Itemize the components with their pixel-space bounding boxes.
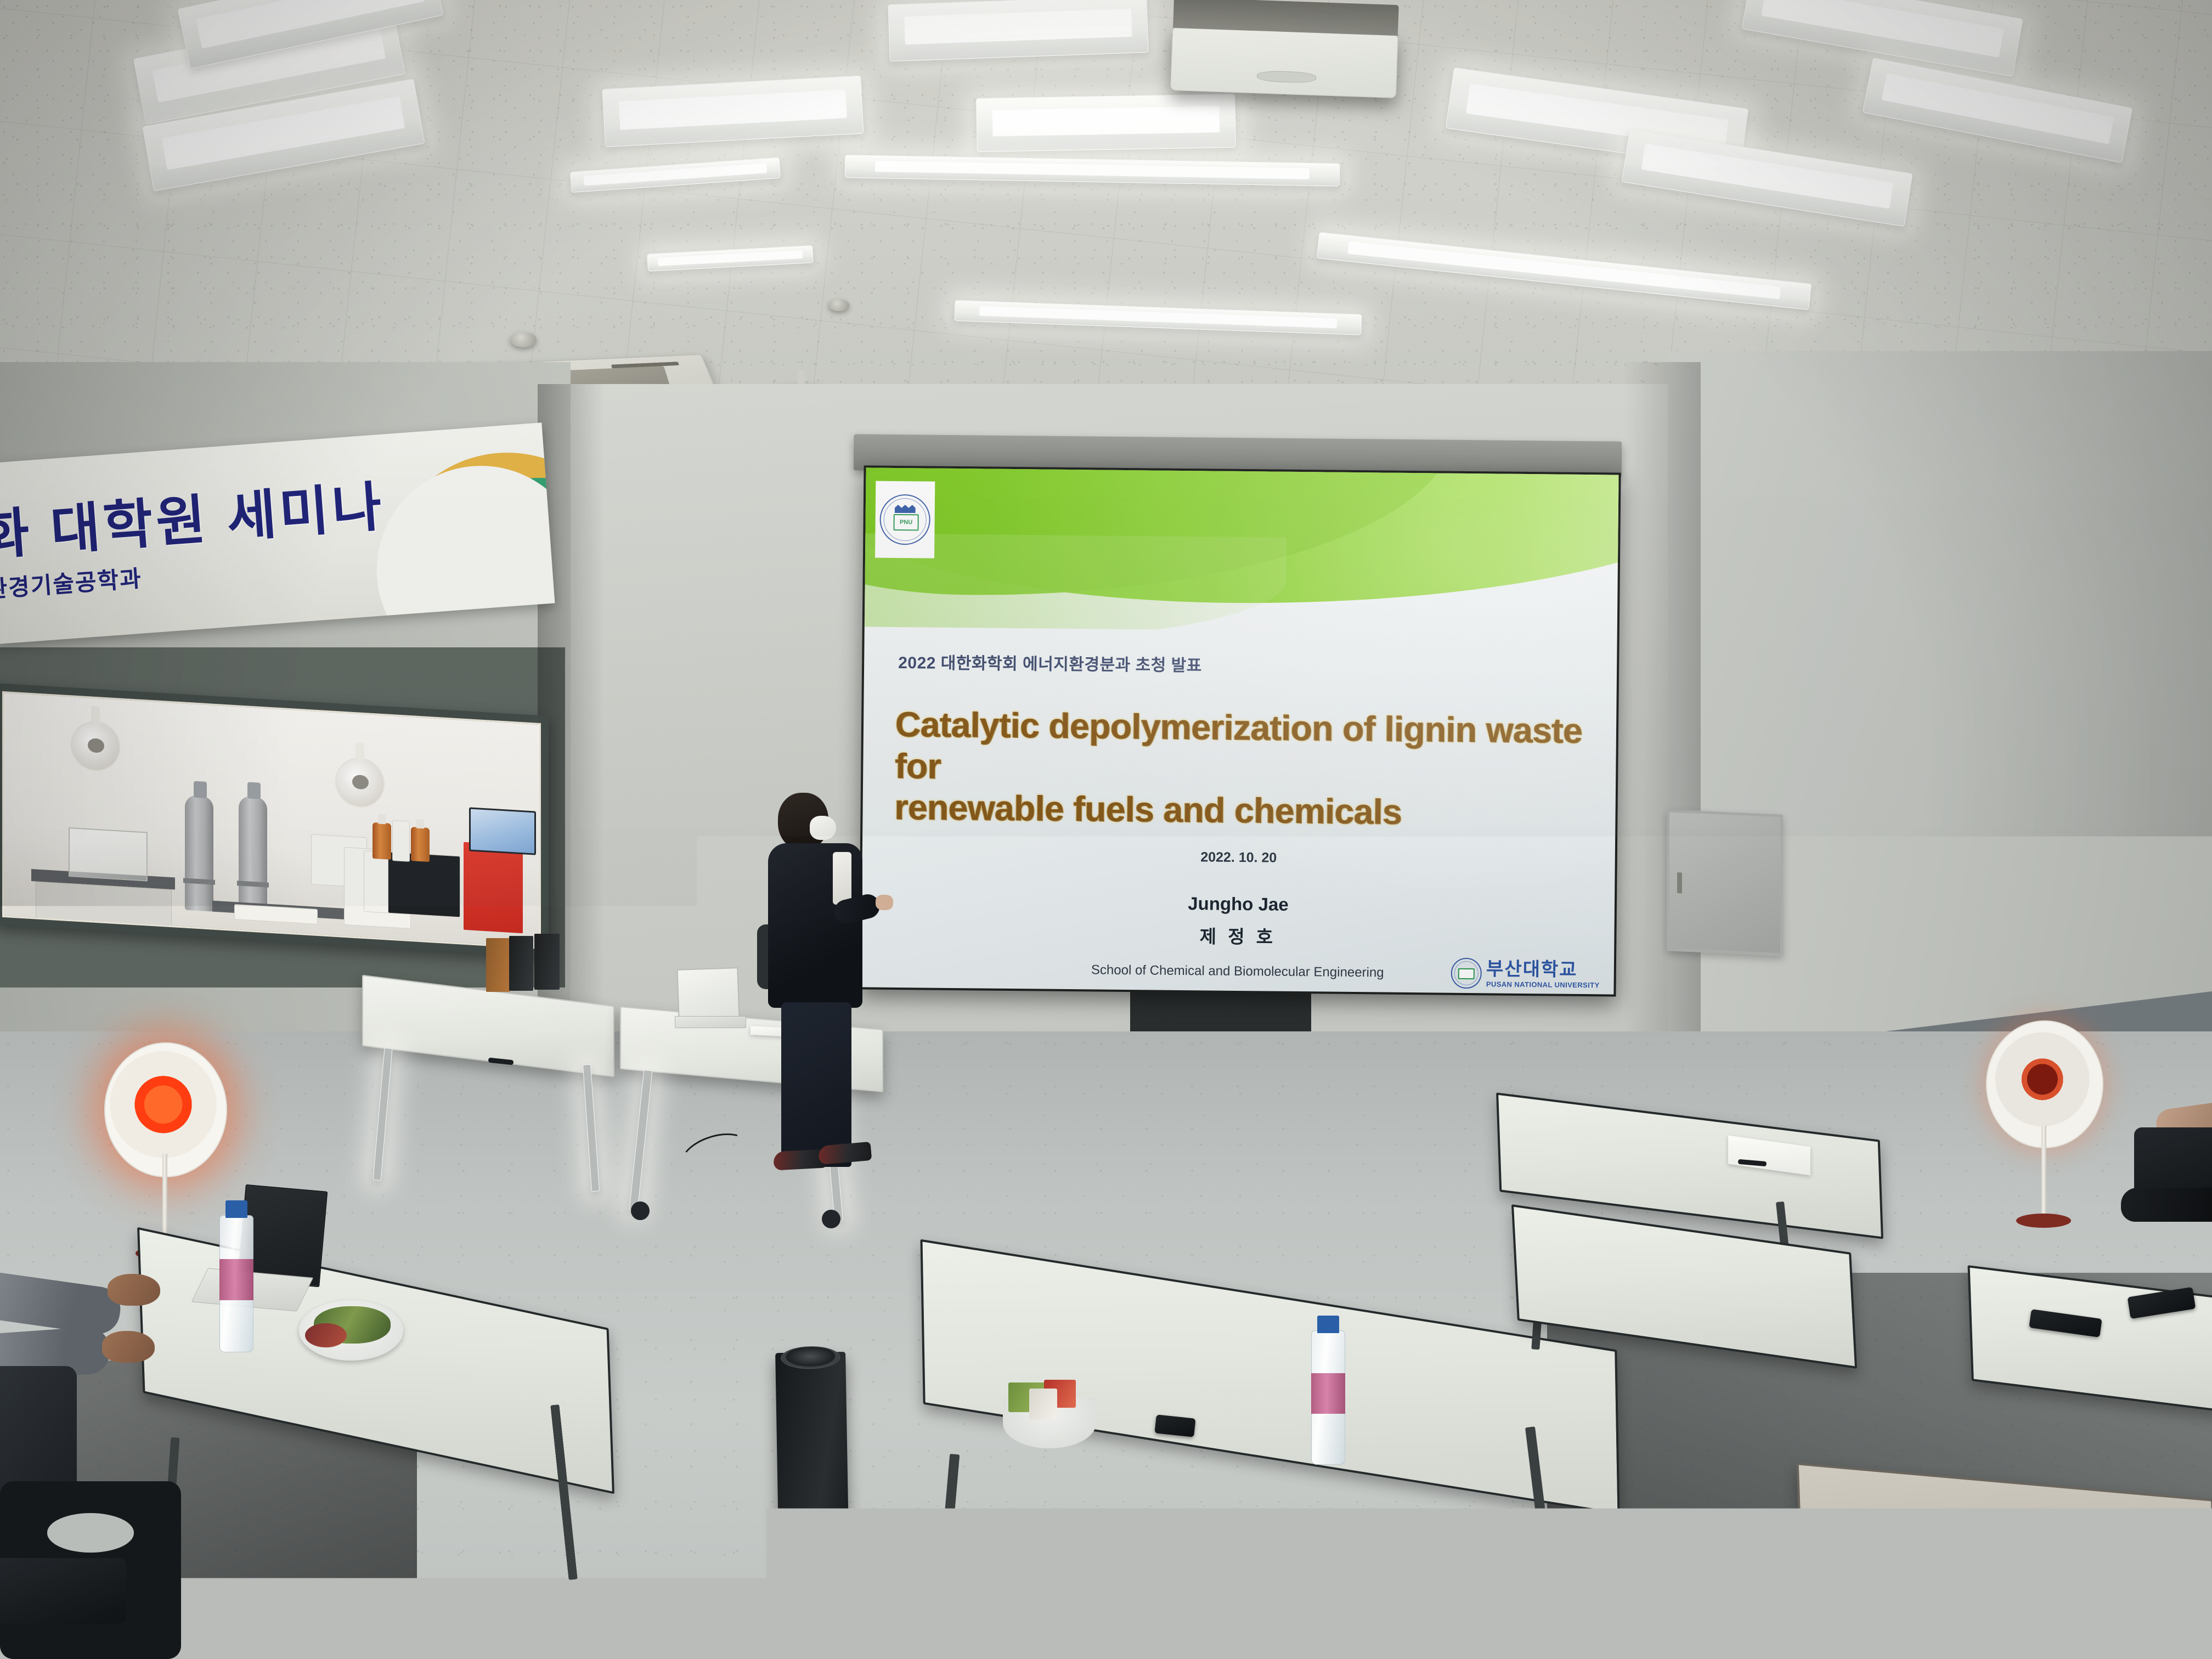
attendee-right <box>2101 1084 2212 1276</box>
pnu-seal-icon <box>1451 958 1482 989</box>
radiant-heater-right[interactable] <box>1986 1020 2101 1223</box>
smoke-detector-icon <box>828 299 849 311</box>
bookshelf-speaker <box>534 934 560 990</box>
seminar-room-photo: 화 대학원 세미나 환경기술공학과 <box>0 0 2212 1659</box>
attendee-hand <box>108 1274 160 1306</box>
amber-bottle <box>411 827 430 862</box>
table-caster <box>631 1201 650 1220</box>
podium-laptop[interactable] <box>676 967 740 1020</box>
water-bottle[interactable] <box>1311 1330 1345 1465</box>
presenter-legs <box>781 1002 851 1167</box>
heater-post <box>2041 1126 2046 1223</box>
presenter <box>768 793 894 1177</box>
projector <box>1170 26 1398 98</box>
smoke-detector-icon <box>510 332 537 347</box>
presenter-shirt <box>833 852 851 905</box>
slide-presenter-name-en: Jungho Jae <box>862 890 1615 918</box>
podium-laptop-base[interactable] <box>675 1016 746 1028</box>
wall-fan-icon <box>335 757 385 809</box>
slide-presenter-name-kr: 제 정 호 <box>861 918 1614 952</box>
banner-title: 화 대학원 세미나 <box>0 463 387 571</box>
attendee-shoe <box>2121 1188 2212 1222</box>
ceiling-light <box>888 0 1148 61</box>
slide-title-line1: Catalytic depolymerization of lignin was… <box>895 704 1594 793</box>
presentation-slide: PNU 2022 대한화학회 에너지환경분과 초청 발표 Catalytic d… <box>861 467 1618 994</box>
water-bottle[interactable] <box>219 1215 253 1352</box>
pnu-logo-mark: PNU <box>893 514 918 531</box>
candy-wrapper <box>1029 1389 1057 1420</box>
water-bottle[interactable] <box>2113 1404 2153 1547</box>
slide-date: 2022. 10. 20 <box>862 846 1615 869</box>
lab-window-frame <box>0 683 549 957</box>
pnu-seal-icon: PNU <box>879 494 930 545</box>
slide-header-graphic <box>865 467 1619 634</box>
slide-logo-box: PNU <box>875 481 935 558</box>
attendee-hand <box>102 1331 155 1363</box>
gas-cylinder <box>239 795 267 913</box>
presenter-shoe <box>773 1149 827 1171</box>
amber-bottle <box>373 822 391 860</box>
snack-plate[interactable] <box>299 1300 403 1361</box>
heater-base <box>2016 1214 2072 1228</box>
ceiling-light <box>976 94 1236 152</box>
slide-title-line2: renewable fuels and chemicals <box>894 787 1594 835</box>
gas-cylinder <box>185 795 213 912</box>
radiant-heater-left[interactable] <box>104 1042 225 1256</box>
table-caster <box>1511 1594 1536 1618</box>
slide-header-text: 2022 대한화학회 에너지환경분과 초청 발표 <box>898 649 1202 676</box>
red-instrument-cabinet <box>464 842 523 933</box>
wall-access-cabinet[interactable] <box>1667 809 1783 956</box>
slide-title: Catalytic depolymerization of lignin was… <box>894 704 1594 835</box>
wall-fan-icon <box>71 720 120 772</box>
attendee-left-legs <box>0 1558 165 1659</box>
lab-window <box>2 691 541 949</box>
bookshelf-speaker <box>509 936 533 991</box>
slide-brand-lockup: 부산대학교 PUSAN NATIONAL UNIVERSITY <box>1451 958 1600 990</box>
candy-bowl[interactable] <box>1003 1398 1096 1448</box>
projection-screen[interactable]: PNU 2022 대한화학회 에너지환경분과 초청 발표 Catalytic d… <box>859 465 1621 996</box>
table-caster <box>822 1210 840 1228</box>
snack-food <box>305 1323 347 1347</box>
lab-monitor <box>469 807 536 855</box>
iced-coffee-cup[interactable] <box>2055 1440 2120 1550</box>
brand-name-kr: 부산대학교 <box>1486 960 1600 979</box>
bookshelf-speaker <box>486 938 510 992</box>
face-mask <box>810 816 836 840</box>
tower-speaker <box>775 1352 851 1659</box>
brand-name-en: PUSAN NATIONAL UNIVERSITY <box>1486 980 1600 989</box>
analytical-balance <box>69 827 148 882</box>
presenter-hand <box>876 895 893 910</box>
speaker-driver-icon <box>781 1346 840 1369</box>
clear-bottle <box>392 820 410 862</box>
